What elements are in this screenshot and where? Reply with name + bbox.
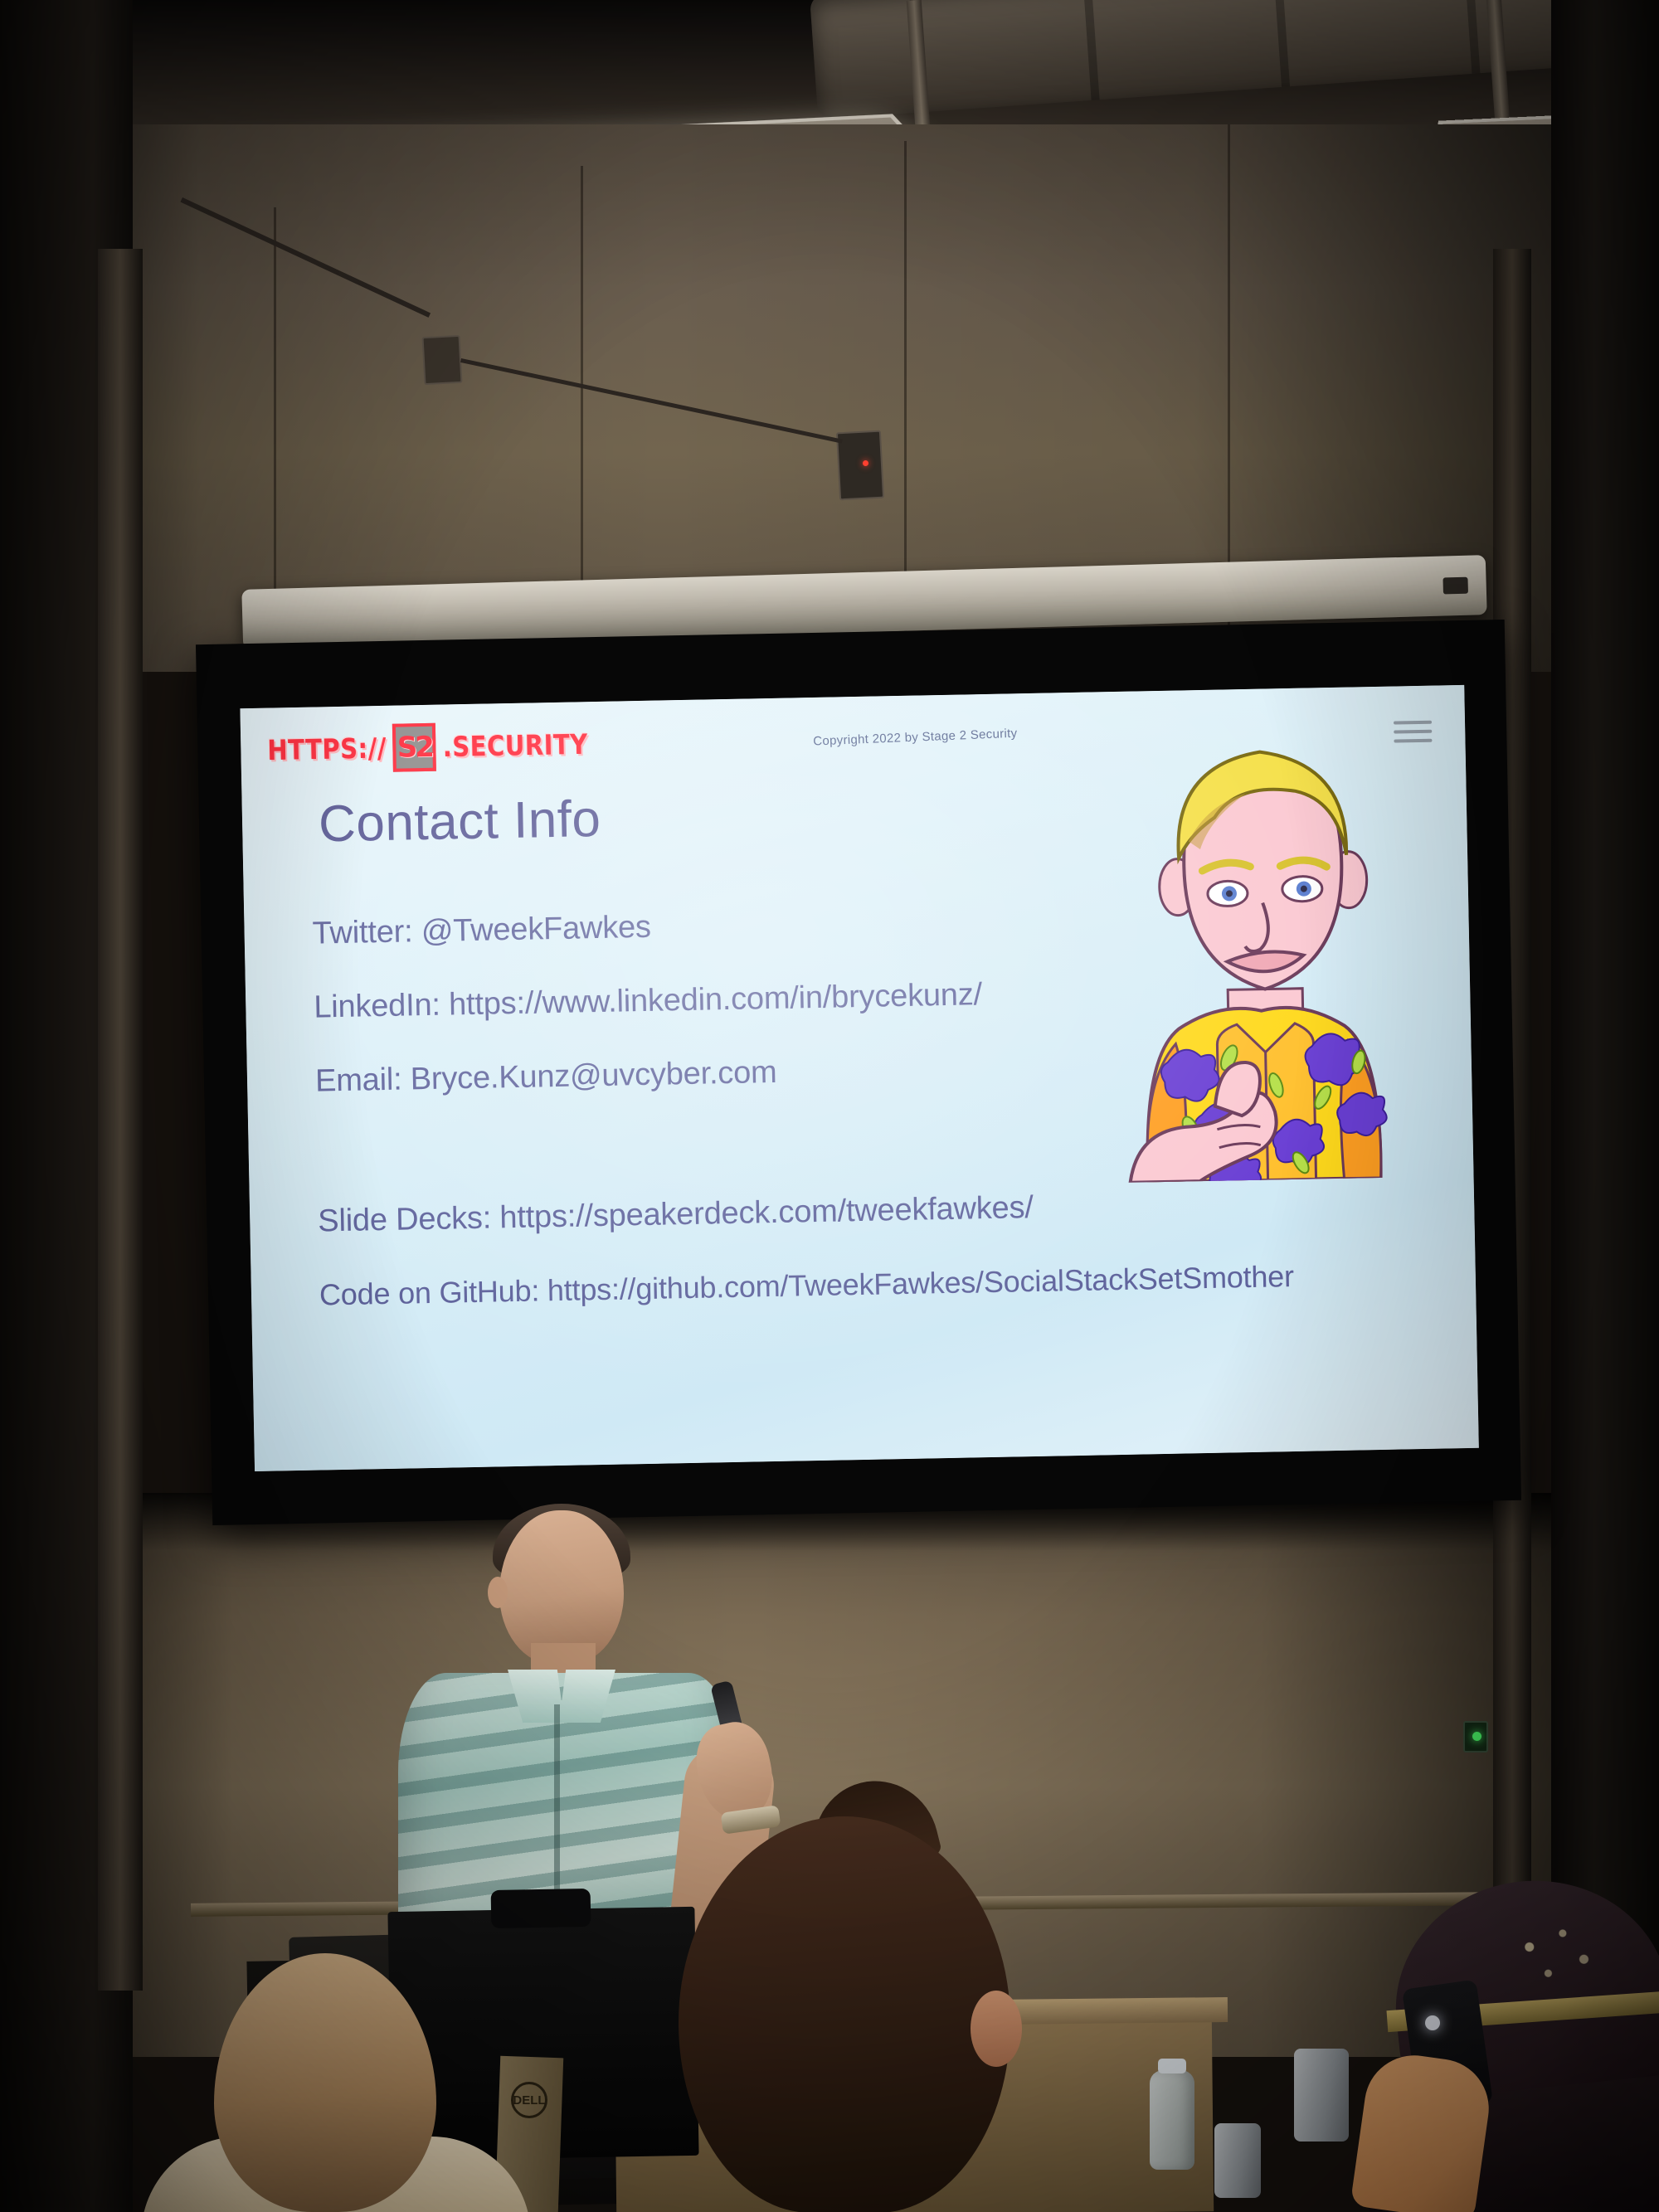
stage2-security-logo: HTTPS:// S2 .SECURITY bbox=[267, 720, 588, 774]
audience-member-hand bbox=[1350, 2049, 1496, 2212]
exit-status-light bbox=[1463, 1721, 1488, 1753]
phone-camera-flash bbox=[1425, 2015, 1440, 2030]
status-led-indicator bbox=[863, 460, 868, 466]
logo-suffix-text: .SECURITY bbox=[442, 728, 588, 763]
logo-prefix-text: HTTPS:// bbox=[267, 732, 387, 766]
contact-line-slide-decks: Slide Decks: https://speakerdeck.com/twe… bbox=[318, 1185, 1314, 1240]
hat-embroidery-pattern bbox=[1487, 1899, 1623, 2005]
wall-sensor-box bbox=[836, 430, 884, 501]
presentation-slide: HTTPS:// S2 .SECURITY Copyright 2022 by … bbox=[240, 685, 1478, 1471]
beverage-can bbox=[1294, 2049, 1349, 2142]
webcam bbox=[491, 1889, 591, 1928]
slide-title: Contact Info bbox=[318, 790, 601, 854]
presentation-room-photo: HTTPS:// S2 .SECURITY Copyright 2022 by … bbox=[0, 0, 1659, 2212]
structural-beam-left bbox=[98, 249, 143, 1991]
beverage-can bbox=[1214, 2123, 1261, 2198]
presenter-ear bbox=[488, 1577, 508, 1608]
screen-roller-cap bbox=[1443, 577, 1468, 595]
dell-logo: DELL bbox=[511, 2082, 547, 2118]
projector-screen-surface: HTTPS:// S2 .SECURITY Copyright 2022 by … bbox=[240, 685, 1478, 1471]
avatar bbox=[1107, 712, 1423, 1183]
projector-screen-frame: HTTPS:// S2 .SECURITY Copyright 2022 by … bbox=[196, 620, 1521, 1525]
room-right-dark-column bbox=[1551, 0, 1659, 2212]
slide-copyright-text: Copyright 2022 by Stage 2 Security bbox=[813, 727, 1018, 749]
cartoon-avatar-icon bbox=[1107, 712, 1423, 1183]
wall-junction-box bbox=[422, 335, 463, 385]
logo-s2-badge: S2 bbox=[392, 723, 436, 772]
bottle-cap bbox=[1158, 2059, 1186, 2073]
audience-member-ear bbox=[971, 1991, 1022, 2067]
presenter-head bbox=[499, 1510, 624, 1665]
water-bottle bbox=[1150, 2070, 1194, 2170]
audience-member-head bbox=[679, 1816, 1010, 2212]
contact-line-github: Code on GitHub: https://github.com/Tweek… bbox=[319, 1258, 1316, 1312]
